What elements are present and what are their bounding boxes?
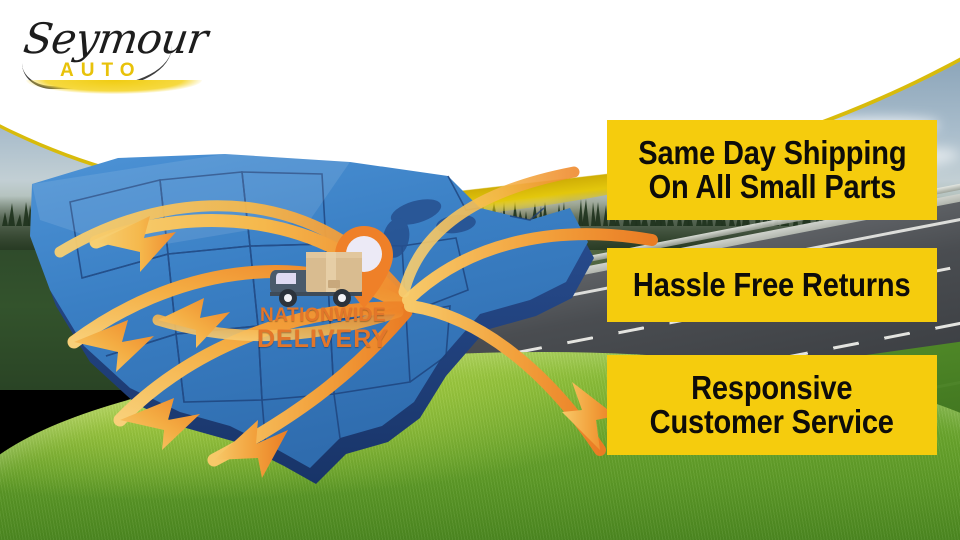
banner-responsive-customer-service[interactable]: Responsive Customer Service	[607, 355, 937, 455]
promo-banner-graphic: Seymour AUTO	[0, 0, 960, 540]
logo-sub-name: AUTO	[60, 60, 141, 82]
banner-1-line-2: On All Small Parts	[638, 170, 906, 204]
banner-2-line-1: Hassle Free Returns	[633, 268, 911, 302]
banner-1-line-1: Same Day Shipping	[638, 136, 906, 170]
banner-3-line-1: Responsive	[650, 371, 894, 405]
banner-hassle-free-returns[interactable]: Hassle Free Returns	[607, 248, 937, 322]
banner-same-day-shipping[interactable]: Same Day Shipping On All Small Parts	[607, 120, 937, 220]
logo-gold-swash	[26, 80, 202, 94]
delivery-truck-icon	[268, 248, 368, 310]
banner-3-line-2: Customer Service	[650, 405, 894, 439]
nationwide-delivery-line2: DELIVERY	[248, 327, 398, 352]
logo-script-name: Seymour	[21, 14, 210, 63]
nationwide-delivery-line1: NATIONWIDE	[248, 306, 398, 325]
nationwide-delivery-label: NATIONWIDE DELIVERY	[248, 306, 398, 352]
brand-logo[interactable]: Seymour AUTO	[18, 12, 208, 92]
